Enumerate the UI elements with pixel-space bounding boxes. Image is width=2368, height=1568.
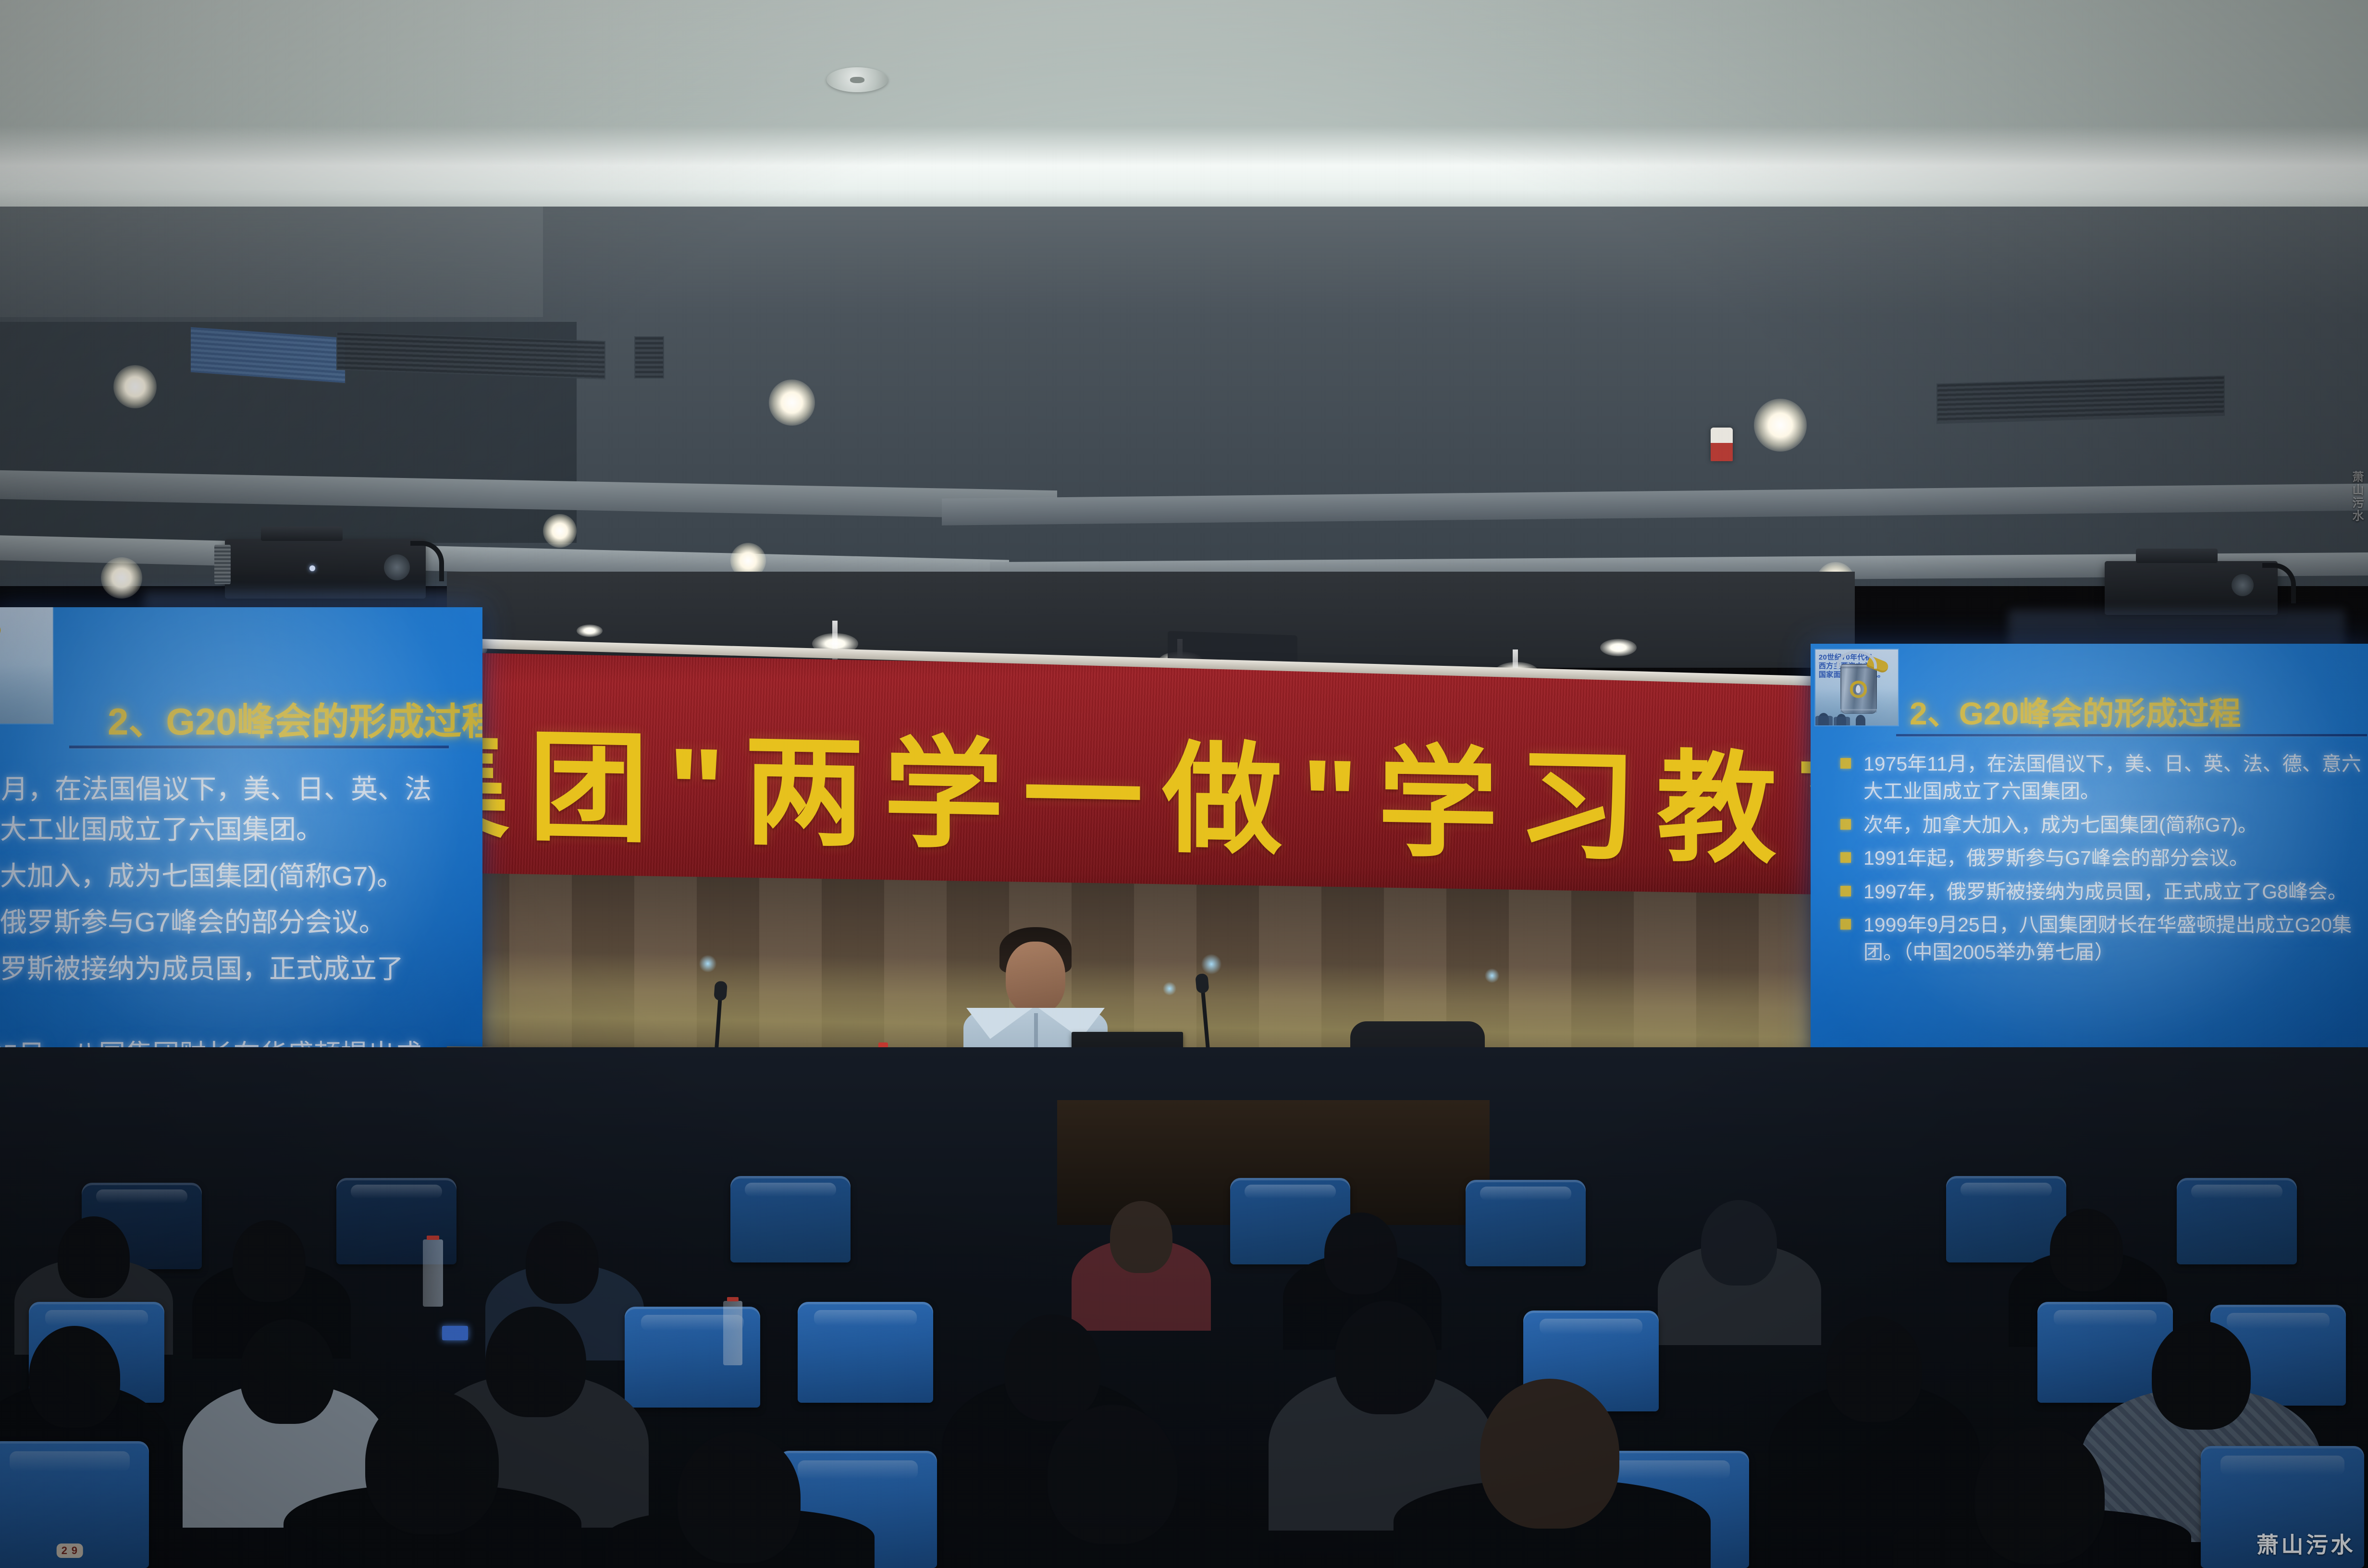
wall-light-glint-3 (1163, 982, 1176, 995)
seat-highlight (745, 1183, 836, 1197)
watermark-side: 萧山污水 (2348, 471, 2365, 523)
bottle-cap (427, 1236, 439, 1240)
seat-highlight (1610, 1460, 1730, 1479)
speaker-collar-left (966, 1008, 1033, 1039)
audience-water-bottle-1 (423, 1239, 443, 1307)
slide-right-thumbnail: 20世纪70年代初， 西方主要资本主义 国家面临石油危机。 (1815, 649, 1898, 725)
seat-highlight (1961, 1183, 2052, 1197)
slide-right-thumb-photo (1815, 689, 1898, 725)
downlight-ceiling-2 (113, 365, 157, 408)
projector-right-lens (2232, 574, 2254, 596)
downlight-ceiling-1 (101, 557, 142, 599)
audience-head-b7 (1826, 1316, 1922, 1422)
projection-screen-left: 2、G20峰会的形成过程 年11月，在法国倡议下，美、日、英、法 意六大工业国成… (0, 607, 482, 1080)
slide-right-bullet-3-text: 1991年起，俄罗斯参与G7峰会的部分会议。 (1863, 847, 2249, 869)
banner-slogan: 集团"两学一做"学习教育 (389, 687, 1935, 889)
slide-left-bullets: 年11月，在法国倡议下，美、日、英、法 意六大工业国成立了六国集团。 加拿大加入… (0, 771, 481, 1080)
seat-row-a-7[interactable] (2177, 1178, 2297, 1264)
seat-number-badge: 2 9 (57, 1543, 83, 1558)
audience-area: 2 9 (0, 1047, 2368, 1568)
wall-light-glint-2 (1201, 954, 1221, 974)
slide-right-bullet-5-text: 1999年9月25日，八国集团财长在华盛顿提出成立G20集团。（中国2005举办… (1863, 914, 2352, 963)
slide-left-bullet-1: 年11月，在法国倡议下，美、日、英、法 (0, 771, 481, 808)
slide-right-bullet-4-text: 1997年，俄罗斯被接纳为成员国，正式成立了G8峰会。 (1863, 881, 2347, 903)
projector-left-lens (384, 554, 410, 580)
wall-light-glint-1 (699, 955, 716, 972)
seat-highlight (45, 1310, 148, 1326)
projector-right-mount (2136, 549, 2218, 563)
audience-head-a2 (233, 1220, 306, 1302)
slide-right-divider (1896, 734, 2367, 736)
slide-left-bullet-1-line2: 意六大工业国成立了六国集团。 (0, 814, 323, 845)
audience-head-a1 (58, 1216, 130, 1298)
bullet-marker-5 (1840, 919, 1851, 930)
bullet-marker-4 (1840, 886, 1851, 896)
audience-head-b1 (240, 1319, 334, 1424)
projection-screen-right: 20世纪70年代初， 西方主要资本主义 国家面临石油危机。 2、G20峰会的形成… (1811, 644, 2368, 1071)
ceiling-cove-light (0, 126, 2368, 198)
slide-right: 20世纪70年代初， 西方主要资本主义 国家面临石油危机。 2、G20峰会的形成… (1811, 644, 2368, 1071)
seat-highlight (96, 1189, 187, 1203)
seat-highlight (2191, 1185, 2282, 1199)
slide-left: 2、G20峰会的形成过程 年11月，在法国倡议下，美、日、英、法 意六大工业国成… (0, 607, 482, 1080)
projector-left (225, 539, 426, 599)
fire-sprinkler-icon (1711, 428, 1733, 461)
audience-head-b2 (29, 1326, 120, 1428)
audience-head-c4 (1975, 1427, 2105, 1564)
projector-left-led (309, 565, 315, 571)
ceiling-tier-two-left (0, 207, 543, 322)
slide-left-bullet-3-text: 起，俄罗斯参与G7峰会的部分会议。 (0, 907, 386, 937)
bottle-cap (727, 1297, 739, 1301)
audience-head-b6 (2152, 1321, 2251, 1430)
seat-highlight (814, 1310, 917, 1326)
slide-left-bullet-1-line1: 年11月，在法国倡议下，美、日、英、法 (0, 774, 432, 804)
seat-highlight (798, 1460, 918, 1479)
smoke-detector-icon (826, 67, 888, 92)
slide-right-bullet-5: 1999年9月25日，八国集团财长在华盛顿提出成立G20集团。（中国2005举办… (1836, 911, 2364, 967)
bullet-marker-2 (1840, 819, 1851, 830)
seat-row-c-1[interactable]: 2 9 (0, 1441, 149, 1568)
seat-row-a-3[interactable] (730, 1176, 851, 1262)
photo-scene: 集团"两学一做"学习教育 2、G20峰会的形成过程 (0, 0, 2368, 1568)
slide-right-bullet-2: 次年，加拿大加入，成为七国集团(简称G7)。 (1836, 811, 2364, 839)
audience-head-a6 (1701, 1200, 1777, 1286)
projector-left-vent (214, 545, 231, 584)
seat-highlight (351, 1185, 442, 1199)
stage-spotlight-6 (577, 625, 603, 637)
seat-highlight (2227, 1313, 2330, 1329)
slide-left-bullet-1b: 意六大工业国成立了六国集团。 (0, 811, 481, 848)
thumb-figure-body-b (1834, 717, 1850, 725)
seat-row-b-3[interactable] (798, 1302, 933, 1403)
slide-left-title: 2、G20峰会的形成过程 (108, 692, 482, 746)
audience-head-c3 (1480, 1379, 1619, 1529)
audience-head-b4 (1004, 1314, 1100, 1421)
speaker-head (1006, 942, 1065, 1014)
audience-head-a5 (1324, 1213, 1397, 1294)
projector-right (2105, 561, 2278, 615)
slide-right-bullet-1: 1975年11月，在法国倡议下，美、日、英、法、德、意六大工业国成立了六国集团。 (1836, 750, 2364, 806)
seat-highlight (1480, 1187, 1571, 1200)
seat-row-a-6[interactable] (1946, 1176, 2066, 1262)
slide-left-thumb-photo (0, 665, 53, 723)
seat-row-a-5[interactable] (1466, 1180, 1586, 1266)
slide-right-bullet-2-text: 次年，加拿大加入，成为七国集团(简称G7)。 (1863, 814, 2257, 836)
seat-highlight (2054, 1310, 2157, 1326)
slide-left-bullet-3: 起，俄罗斯参与G7峰会的部分会议。 (0, 904, 481, 941)
downlight-ceiling-7 (543, 514, 577, 548)
downlight-ceiling-3 (769, 380, 815, 426)
hvac-vent-right (1936, 376, 2225, 424)
audience-head-b5 (1335, 1301, 1437, 1414)
slide-left-bullet-2-text: 加拿大加入，成为七国集团(简称G7)。 (0, 861, 404, 891)
smoke-detector-grille (850, 77, 865, 84)
audience-water-bottle-2 (723, 1301, 742, 1365)
thumb-figure-head-c (1856, 715, 1865, 725)
slide-left-bullet-2: 加拿大加入，成为七国集团(简称G7)。 (0, 857, 481, 895)
audience-phone-screen (442, 1326, 468, 1340)
slide-left-thumbnail (0, 607, 53, 723)
thumb-figure-body-a (1815, 716, 1833, 725)
audience-head-c5 (678, 1432, 801, 1563)
microphone-center-capsule (1195, 973, 1209, 993)
slide-right-title: 2、G20峰会的形成过程 (1910, 688, 2241, 734)
downlight-ceiling-5 (1754, 399, 1807, 452)
seat-highlight (1245, 1185, 1336, 1199)
audience-head-a7 (2050, 1209, 2123, 1291)
wall-light-glint-4 (1485, 968, 1499, 983)
seat-highlight (2220, 1456, 2344, 1475)
hvac-vent-small (634, 336, 664, 379)
stage-spotlight-5 (1600, 639, 1637, 656)
slide-left-divider (69, 746, 449, 748)
seat-highlight (1540, 1319, 1642, 1335)
audience-head-c2 (1048, 1405, 1177, 1544)
bullet-marker-3 (1840, 852, 1851, 863)
projector-left-mount (261, 527, 343, 541)
red-banner: 集团"两学一做"学习教育 (447, 652, 1855, 904)
watermark-corner: 萧山污水 (2257, 1528, 2356, 1559)
audience-head-c1 (365, 1390, 499, 1534)
audience-head-b3 (485, 1307, 586, 1417)
audience-head-a4 (1110, 1201, 1172, 1273)
slide-left-bullet-4: ，俄罗斯被接纳为成员国，正式成立了 (0, 950, 481, 988)
seat-highlight (10, 1451, 130, 1471)
audience-head-a3 (526, 1221, 599, 1304)
bullet-marker-1 (1840, 758, 1851, 769)
slide-left-bullet-4b: 。 (0, 990, 481, 1027)
slide-left-bullet-4-line1: ，俄罗斯被接纳为成员国，正式成立了 (0, 954, 404, 984)
slide-right-bullet-3: 1991年起，俄罗斯参与G7峰会的部分会议。 (1836, 845, 2364, 872)
slide-right-bullets: 1975年11月，在法国倡议下，美、日、英、法、德、意六大工业国成立了六国集团。… (1836, 750, 2364, 967)
microphone-right-capsule (714, 981, 728, 1001)
slide-right-bullet-4: 1997年，俄罗斯被接纳为成员国，正式成立了G8峰会。 (1836, 878, 2364, 906)
fuel-nozzle-icon (0, 614, 2, 646)
slide-right-bullet-1-text: 1975年11月，在法国倡议下，美、日、英、法、德、意六大工业国成立了六国集团。 (1863, 753, 2361, 802)
